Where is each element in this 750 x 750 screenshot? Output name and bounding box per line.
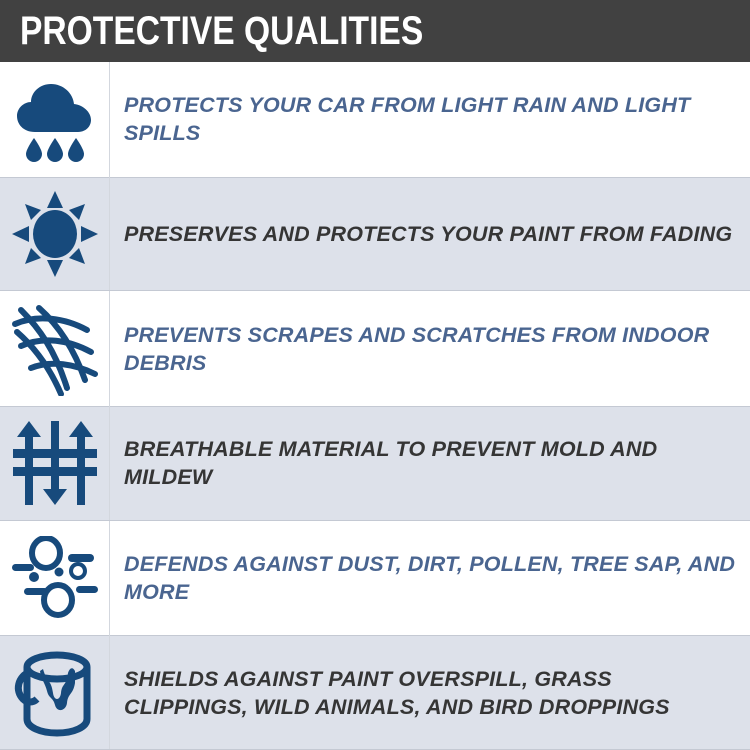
list-item: BREATHABLE MATERIAL TO PREVENT MOLD AND … (0, 406, 750, 521)
list-item-label: PREVENTS SCRAPES AND SCRATCHES FROM INDO… (124, 321, 736, 377)
rain-cloud-icon (13, 76, 97, 162)
list-item-label: PROTECTS YOUR CAR FROM LIGHT RAIN AND LI… (124, 91, 736, 147)
list-item: PROTECTS YOUR CAR FROM LIGHT RAIN AND LI… (0, 62, 750, 177)
list-item: PRESERVES AND PROTECTS YOUR PAINT FROM F… (0, 177, 750, 292)
list-item-label: BREATHABLE MATERIAL TO PREVENT MOLD AND … (124, 435, 736, 491)
page-title: PROTECTIVE QUALITIES (20, 11, 423, 51)
list-item: PREVENTS SCRAPES AND SCRATCHES FROM INDO… (0, 291, 750, 406)
icon-cell (0, 635, 110, 750)
list-item-label: SHIELDS AGAINST PAINT OVERSPILL, GRASS C… (124, 665, 736, 721)
header-bar: PROTECTIVE QUALITIES (0, 0, 750, 62)
paint-can-icon (13, 649, 97, 737)
dust-particles-icon (10, 536, 100, 620)
sun-icon (12, 191, 98, 277)
text-cell: PRESERVES AND PROTECTS YOUR PAINT FROM F… (110, 177, 750, 292)
list-item: DEFENDS AGAINST DUST, DIRT, POLLEN, TREE… (0, 521, 750, 636)
list-item-label: DEFENDS AGAINST DUST, DIRT, POLLEN, TREE… (124, 550, 736, 606)
paint-drip (40, 668, 75, 710)
icon-cell (0, 521, 110, 636)
icon-cell (0, 291, 110, 406)
breathable-airflow-icon (13, 419, 97, 507)
protective-qualities-infographic: PROTECTIVE QUALITIES PROTECTS YOUR CAR F… (0, 0, 750, 750)
text-cell: PROTECTS YOUR CAR FROM LIGHT RAIN AND LI… (110, 62, 750, 177)
text-cell: PREVENTS SCRAPES AND SCRATCHES FROM INDO… (110, 291, 750, 406)
icon-cell (0, 177, 110, 292)
qualities-list: PROTECTS YOUR CAR FROM LIGHT RAIN AND LI… (0, 62, 750, 750)
text-cell: BREATHABLE MATERIAL TO PREVENT MOLD AND … (110, 406, 750, 521)
icon-cell (0, 62, 110, 177)
text-cell: DEFENDS AGAINST DUST, DIRT, POLLEN, TREE… (110, 521, 750, 636)
text-cell: SHIELDS AGAINST PAINT OVERSPILL, GRASS C… (110, 635, 750, 750)
list-item-label: PRESERVES AND PROTECTS YOUR PAINT FROM F… (124, 220, 732, 248)
icon-cell (0, 406, 110, 521)
scratches-icon (11, 302, 99, 396)
list-item: SHIELDS AGAINST PAINT OVERSPILL, GRASS C… (0, 635, 750, 750)
